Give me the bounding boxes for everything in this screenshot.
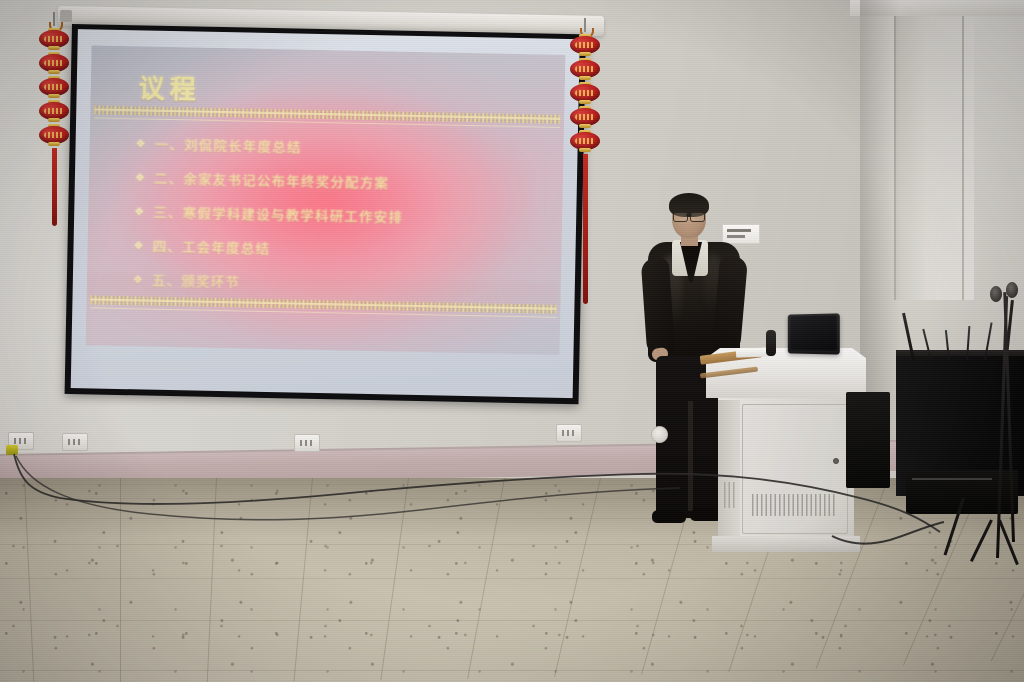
round-wall-outlet[interactable]	[651, 426, 668, 443]
microphone-head-2	[1006, 282, 1018, 298]
lantern-2	[39, 52, 69, 74]
wall-outlet-left-2[interactable]	[62, 433, 88, 451]
slide-bullet-text: 三、寒假学科建设与教学科研工作安排	[153, 202, 403, 227]
lantern-cap-bottom	[579, 148, 591, 152]
lantern-cap-bottom	[48, 70, 60, 74]
leg-separation	[688, 401, 693, 511]
bullet-marker-icon: ❖	[134, 205, 145, 218]
lantern-cap-bottom	[579, 76, 591, 80]
lantern-stack	[568, 18, 602, 152]
lantern-tassel	[583, 154, 588, 304]
slide-bullet-text: 一、刘侃院长年度总结	[154, 134, 301, 157]
floor-line-horizontal	[0, 578, 1024, 579]
laptop[interactable]	[788, 313, 840, 354]
red-lantern-string-right	[568, 18, 602, 304]
floor-line-horizontal	[0, 544, 1024, 545]
slide-bullet-text: 四、工会年度总结	[152, 236, 270, 258]
lectern-lock[interactable]	[833, 458, 839, 464]
projected-slide: 议程 ❖一、刘侃院长年度总结❖二、余家友书记公布年终奖分配方案❖三、寒假学科建设…	[86, 45, 566, 354]
lantern-cap-bottom	[579, 124, 591, 128]
lantern-cap-bottom	[579, 100, 591, 104]
bullet-marker-icon: ❖	[133, 239, 144, 252]
lens-left	[673, 212, 688, 222]
microphone-on-lectern	[766, 330, 776, 356]
lens-right	[690, 212, 705, 222]
yellow-plug	[6, 445, 18, 455]
bullet-marker-icon: ❖	[135, 137, 146, 150]
lantern-stack	[37, 12, 71, 146]
floor-line-horizontal	[0, 620, 1024, 621]
floor-line-horizontal	[0, 670, 1024, 671]
lantern-4	[570, 106, 600, 128]
lectern-base	[712, 536, 860, 552]
loudspeaker	[846, 392, 890, 488]
laptop-screen	[791, 315, 837, 350]
bullet-marker-icon: ❖	[135, 171, 146, 184]
lantern-cap-bottom	[48, 142, 60, 146]
eyeglasses	[673, 212, 705, 220]
lantern-cap-bottom	[579, 52, 591, 56]
lantern-3	[570, 82, 600, 104]
lectern-side-panel	[718, 400, 740, 542]
slide-title: 议程	[138, 68, 201, 106]
lantern-3	[39, 76, 69, 98]
lectern-vent-grille	[752, 494, 836, 516]
lectern-vent-grille-side	[724, 482, 736, 508]
alcove-edge-right	[962, 8, 964, 300]
lantern-tassel	[52, 148, 57, 226]
lantern-hook	[584, 18, 586, 32]
glasses-bridge	[686, 215, 692, 216]
screen-surface: 议程 ❖一、刘侃院长年度总结❖二、余家友书记公布年终奖分配方案❖三、寒假学科建设…	[71, 29, 580, 398]
shoe-left	[652, 510, 686, 523]
lantern-1	[39, 28, 69, 50]
lantern-cap-bottom	[48, 94, 60, 98]
projection-screen: 议程 ❖一、刘侃院长年度总结❖二、余家友书记公布年终奖分配方案❖三、寒假学科建设…	[65, 24, 586, 404]
wall-outlet-right[interactable]	[556, 424, 582, 442]
av-amplifier-label	[912, 478, 992, 480]
lantern-2	[570, 58, 600, 80]
lantern-hook	[53, 12, 55, 26]
lantern-cap-bottom	[48, 118, 60, 122]
slide-bullet-text: 二、余家友书记公布年终奖分配方案	[154, 168, 390, 193]
lantern-4	[39, 100, 69, 122]
lantern-5	[570, 130, 600, 152]
lantern-5	[39, 124, 69, 146]
microphone-head-1	[990, 286, 1002, 302]
wall-outlet-center[interactable]	[294, 434, 320, 452]
red-lantern-string-left	[37, 12, 71, 226]
lantern-cap-bottom	[48, 46, 60, 50]
conference-room-scene: 议程 ❖一、刘侃院长年度总结❖二、余家友书记公布年终奖分配方案❖三、寒假学科建设…	[0, 0, 1024, 682]
lantern-1	[570, 34, 600, 56]
